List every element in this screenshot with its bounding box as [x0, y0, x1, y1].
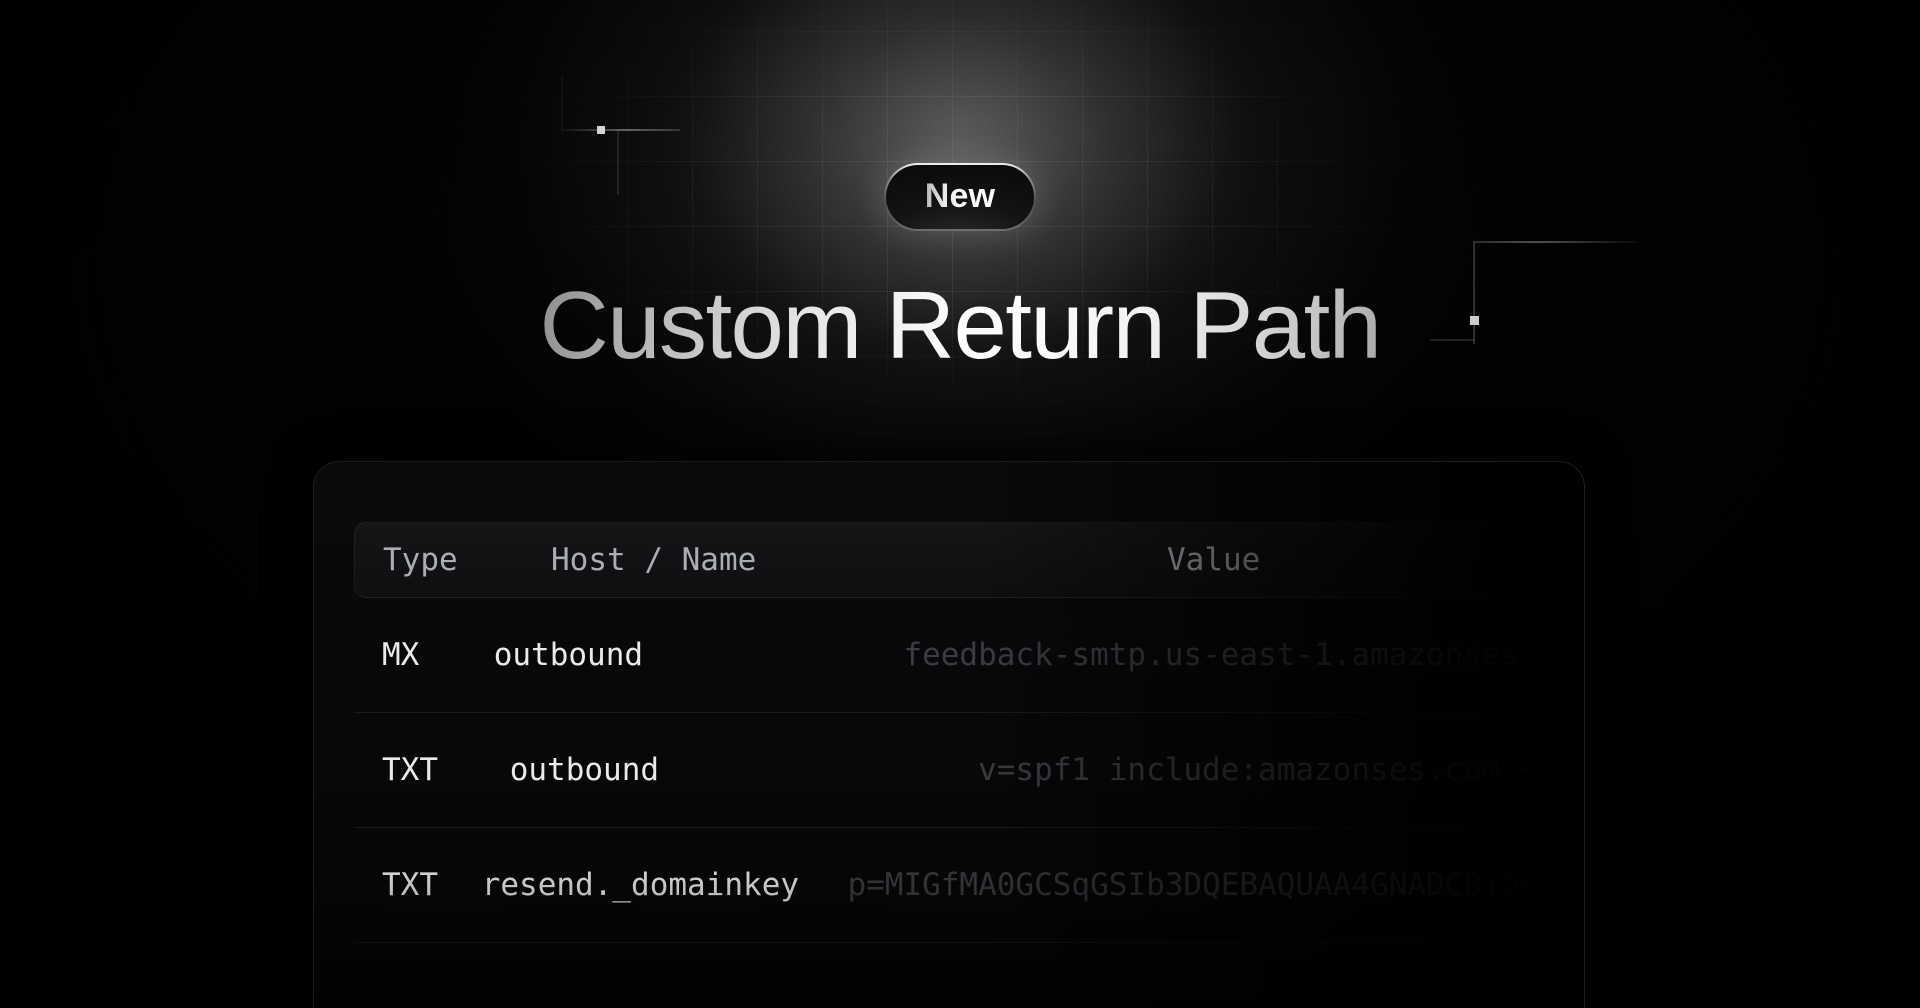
dns-records-card: Type Host / Name Value MX outbound feedb…: [313, 461, 1585, 1008]
column-header-host: Host / Name: [551, 542, 1167, 578]
column-header-type: Type: [355, 542, 551, 578]
column-header-value: Value: [1167, 542, 1585, 578]
record-host: resend._domainkey: [482, 867, 848, 903]
record-value: feedback-smtp.us-east-1.amazonses.com: [903, 637, 1585, 673]
table-row[interactable]: MX outbound feedback-smtp.us-east-1.amaz…: [354, 598, 1585, 713]
new-badge-inner: New: [886, 165, 1035, 229]
new-badge: New: [884, 163, 1037, 231]
record-value: v=spf1 include:amazonses.com ~all: [978, 752, 1585, 788]
record-value: p=MIGfMA0GCSqGSIb3DQEBAQUAA4GNADCBiQKBgQ: [847, 867, 1585, 903]
dns-records-table: Type Host / Name Value MX outbound feedb…: [354, 462, 1585, 943]
record-type: TXT: [354, 752, 510, 788]
record-host: outbound: [494, 637, 904, 673]
table-header-row: Type Host / Name Value: [354, 522, 1585, 598]
new-badge-container: New: [0, 163, 1920, 231]
table-row[interactable]: TXT resend._domainkey p=MIGfMA0GCSqGSIb3…: [354, 828, 1585, 943]
record-type: TXT: [354, 867, 482, 903]
table-row[interactable]: TXT outbound v=spf1 include:amazonses.co…: [354, 713, 1585, 828]
hero-banner: New Custom Return Path Type Host / Name …: [0, 0, 1920, 1008]
record-type: MX: [354, 637, 494, 673]
new-badge-label: New: [925, 177, 996, 215]
page-title-text: Custom Return Path: [540, 272, 1381, 379]
record-host: outbound: [510, 752, 978, 788]
page-title: Custom Return Path: [0, 278, 1920, 374]
